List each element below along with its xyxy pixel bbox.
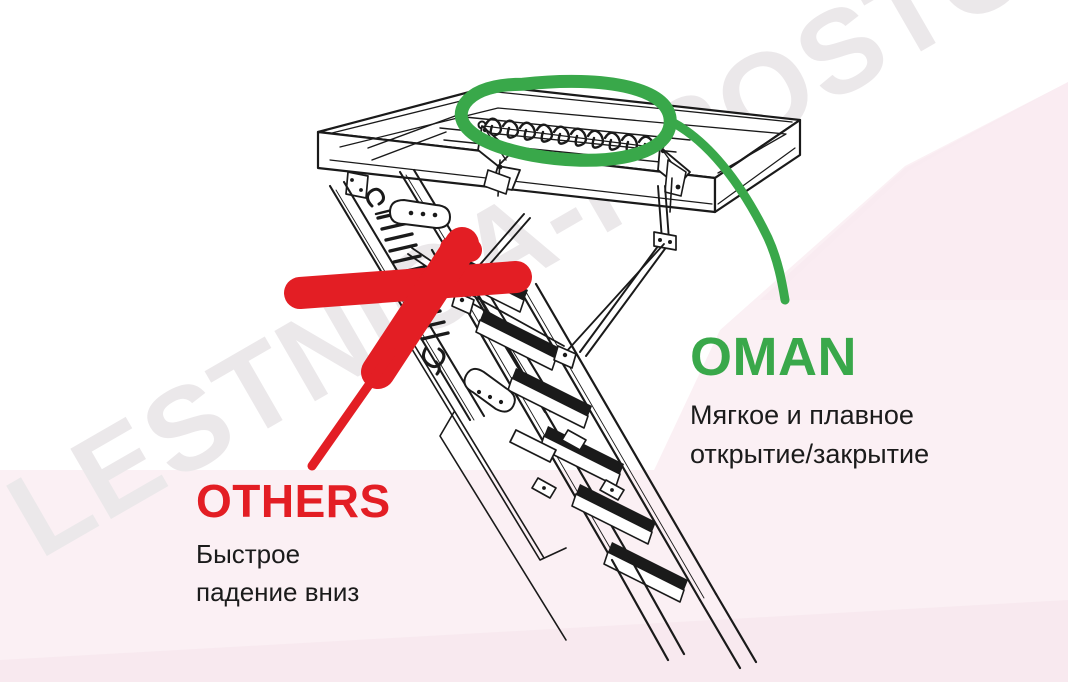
oman-title: OMAN <box>690 330 929 384</box>
green-tail-stroke <box>672 122 785 300</box>
oman-description-line-1: Мягкое и плавное <box>690 396 929 435</box>
callout-others: OTHERS Быстрое падение вниз <box>196 478 391 611</box>
others-description-line-2: падение вниз <box>196 574 391 612</box>
illustration-canvas: LESTNICA-PROSTO.RU <box>0 0 1068 682</box>
callout-oman: OMAN Мягкое и плавное открытие/закрытие <box>690 330 929 474</box>
others-description-line-1: Быстрое <box>196 536 391 574</box>
oman-description-line-2: открытие/закрытие <box>690 435 929 474</box>
red-cross-arrow <box>300 244 516 466</box>
red-bar-horizontal <box>300 277 516 293</box>
red-arrow-shaft <box>312 352 392 466</box>
others-title: OTHERS <box>196 478 391 524</box>
